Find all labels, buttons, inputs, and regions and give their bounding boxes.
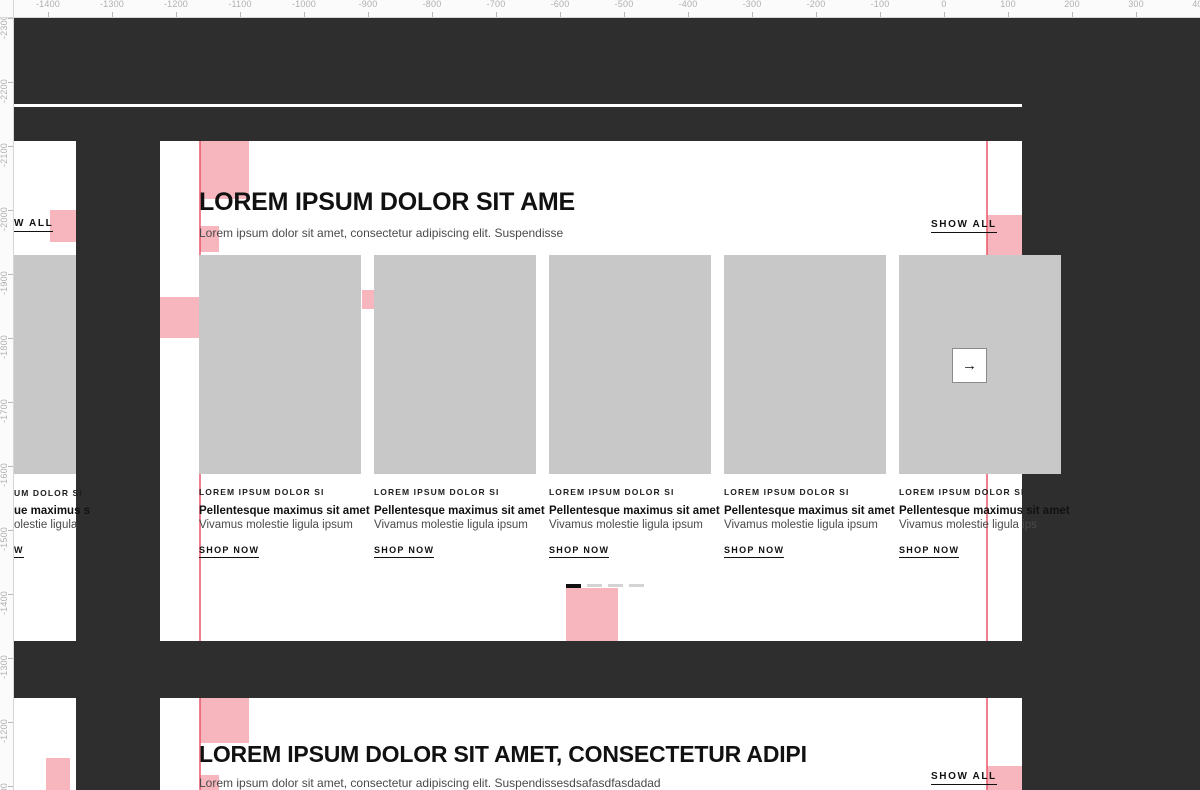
show-all-link[interactable]: SHOW ALL: [931, 219, 997, 233]
product-eyebrow: LOREM IPSUM DOLOR SI: [899, 487, 1061, 497]
ruler-tick-label: 300: [1128, 0, 1144, 9]
ruler-tick-label: -1100: [228, 0, 251, 9]
product-card[interactable]: LOREM IPSUM DOLOR SI Pellentesque maximu…: [899, 255, 1061, 558]
ruler-tick-label: -1800: [0, 335, 9, 359]
ruler-tick-label: -300: [743, 0, 762, 9]
vertical-ruler[interactable]: -2300-2200-2100-2000-1900-1800-1700-1600…: [0, 0, 14, 790]
ruler-tick: [944, 12, 945, 17]
shop-now-link[interactable]: SHOP NOW: [374, 545, 434, 558]
ruler-tick-label: -800: [423, 0, 442, 9]
product-eyebrow: LOREM IPSUM DOLOR SI: [549, 487, 711, 497]
ruler-tick: [1008, 12, 1009, 17]
clipped-card-shop-now-link[interactable]: W: [14, 545, 24, 558]
ruler-tick: [432, 12, 433, 17]
overlay-pink-block-left-2: [46, 758, 70, 790]
product-eyebrow: LOREM IPSUM DOLOR SI: [374, 487, 536, 497]
clipped-card-description: olestie ligula: [14, 519, 77, 531]
ruler-tick-label: -1300: [0, 655, 9, 679]
ruler-tick-label: -1900: [0, 271, 9, 295]
ruler-tick-label: -1300: [100, 0, 124, 9]
ruler-tick-label: -700: [487, 0, 506, 9]
product-title: Pellentesque maximus sit amet: [199, 505, 361, 517]
ruler-tick-label: -1500: [0, 527, 9, 551]
clipped-card-eyebrow: UM DOLOR SI: [14, 488, 83, 498]
overlay-pink-block-gutter: [160, 297, 200, 338]
ruler-tick-label: -1700: [0, 399, 9, 423]
ruler-tick: [1072, 12, 1073, 17]
ruler-tick: [112, 12, 113, 17]
overlay-pink-block-pager: [566, 588, 618, 641]
ruler-tick-label: -2300: [0, 15, 9, 39]
product-title: Pellentesque maximus sit amet: [374, 505, 536, 517]
page-title: LOREM IPSUM DOLOR SIT AME: [199, 189, 575, 217]
ruler-tick-label: -1400: [36, 0, 60, 9]
ruler-tick-label: -200: [807, 0, 826, 9]
ruler-tick-label: -2000: [0, 207, 9, 231]
product-title: Pellentesque maximus sit amet: [549, 505, 711, 517]
product-eyebrow: LOREM IPSUM DOLOR SI: [199, 487, 361, 497]
section-header: LOREM IPSUM DOLOR SIT AME Lorem ipsum do…: [199, 189, 575, 241]
bottom-page-title: LOREM IPSUM DOLOR SIT AMET, CONSECTETUR …: [199, 742, 807, 767]
ruler-tick-label: -1100: [0, 783, 9, 790]
clipped-card-title: ue maximus s: [14, 505, 90, 517]
product-card[interactable]: LOREM IPSUM DOLOR SI Pellentesque maximu…: [724, 255, 886, 558]
ruler-tick-label: -400: [679, 0, 698, 9]
artboard-divider-line: [14, 104, 1022, 107]
ruler-tick: [816, 12, 817, 17]
product-title: Pellentesque maximus sit amet: [899, 505, 1061, 517]
ruler-tick-label: -1600: [0, 463, 9, 487]
section-subtitle: Lorem ipsum dolor sit amet, consectetur …: [199, 226, 575, 242]
ruler-tick: [304, 12, 305, 17]
product-title: Pellentesque maximus sit amet: [724, 505, 886, 517]
carousel-pagination: [566, 584, 644, 588]
product-description: Vivamus molestie ligula ipsum: [199, 519, 361, 531]
ruler-tick-label: -600: [551, 0, 570, 9]
ruler-tick-label: -1000: [292, 0, 316, 9]
arrow-right-icon: →: [962, 358, 977, 373]
ruler-tick-label: -2100: [0, 143, 9, 167]
ruler-tick-label: -1200: [0, 719, 9, 743]
product-description: Vivamus molestie ligula ips: [899, 519, 1061, 531]
pagination-bar-4[interactable]: [629, 584, 644, 587]
product-card[interactable]: LOREM IPSUM DOLOR SI Pellentesque maximu…: [374, 255, 536, 558]
horizontal-ruler[interactable]: -1400-1300-1200-1100-1000-900-800-700-60…: [0, 0, 1200, 18]
shop-now-link[interactable]: SHOP NOW: [724, 545, 784, 558]
product-image: [374, 255, 536, 474]
ruler-tick-label: -100: [871, 0, 890, 9]
ruler-tick: [880, 12, 881, 17]
overlay-pink-block-left-1: [50, 210, 76, 242]
ruler-tick-label: -1200: [164, 0, 188, 9]
product-card-grid: LOREM IPSUM DOLOR SI Pellentesque maximu…: [199, 255, 987, 558]
ruler-tick-label: -1400: [0, 591, 9, 615]
ruler-tick-label: -900: [359, 0, 378, 9]
carousel-next-button[interactable]: →: [952, 348, 987, 383]
bottom-show-all-link[interactable]: SHOW ALL: [931, 771, 997, 785]
ruler-tick: [1136, 12, 1137, 17]
shop-now-link[interactable]: SHOP NOW: [549, 545, 609, 558]
ruler-tick: [688, 12, 689, 17]
clipped-product-image: [14, 255, 76, 474]
product-description: Vivamus molestie ligula ipsum: [549, 519, 711, 531]
product-image: [199, 255, 361, 474]
ruler-tick: [368, 12, 369, 17]
product-description: Vivamus molestie ligula ipsum: [724, 519, 886, 531]
product-card[interactable]: LOREM IPSUM DOLOR SI Pellentesque maximu…: [199, 255, 361, 558]
ruler-tick: [48, 12, 49, 17]
shop-now-link[interactable]: SHOP NOW: [899, 545, 959, 558]
product-image: [724, 255, 886, 474]
product-description: Vivamus molestie ligula ipsum: [374, 519, 536, 531]
ruler-tick: [560, 12, 561, 17]
product-eyebrow: LOREM IPSUM DOLOR SI: [724, 487, 886, 497]
ruler-tick: [624, 12, 625, 17]
pagination-bar-3[interactable]: [608, 584, 623, 587]
ruler-tick-label: 400: [1192, 0, 1200, 9]
design-canvas-screen: W ALL UM DOLOR SI ue maximus s olestie l…: [0, 0, 1200, 790]
ruler-tick-label: 200: [1064, 0, 1080, 9]
overlay-pink-block-bottom-title: [200, 698, 249, 743]
bottom-section-header: LOREM IPSUM DOLOR SIT AMET, CONSECTETUR …: [199, 742, 807, 790]
clipped-show-all-link[interactable]: W ALL: [14, 218, 53, 232]
ruler-tick: [176, 12, 177, 17]
product-card[interactable]: LOREM IPSUM DOLOR SI Pellentesque maximu…: [549, 255, 711, 558]
ruler-tick: [752, 12, 753, 17]
ruler-tick: [496, 12, 497, 17]
product-image: [549, 255, 711, 474]
ruler-tick-label: 100: [1000, 0, 1016, 9]
pagination-bar-2[interactable]: [587, 584, 602, 587]
pagination-bar-1[interactable]: [566, 584, 581, 588]
ruler-tick-label: -2200: [0, 79, 9, 103]
ruler-corner: [0, 0, 14, 18]
ruler-tick: [240, 12, 241, 17]
bottom-section-subtitle: Lorem ipsum dolor sit amet, consectetur …: [199, 776, 807, 790]
ruler-tick-label: -500: [615, 0, 634, 9]
shop-now-link[interactable]: SHOP NOW: [199, 545, 259, 558]
ruler-tick-label: 0: [941, 0, 946, 9]
